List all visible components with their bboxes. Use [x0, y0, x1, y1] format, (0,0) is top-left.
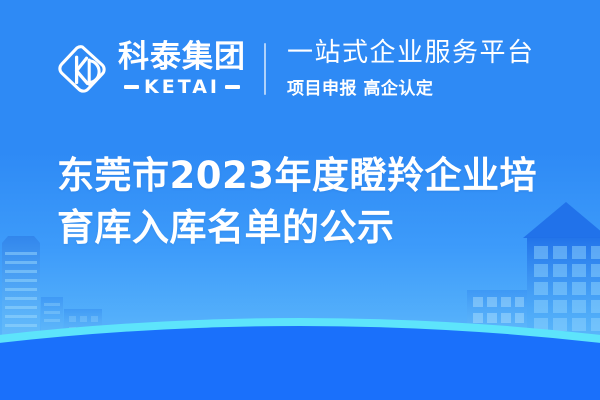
- tagline-main: 一站式企业服务平台: [287, 39, 535, 68]
- left-midrise: [41, 297, 63, 346]
- announcement-banner: 科泰集团 KETAI 一站式企业服务平台 项目申报 高企认定 东莞市2023年度…: [0, 0, 600, 400]
- right-lowrise: [467, 290, 527, 346]
- bottom-wave-band: [0, 318, 600, 400]
- tagline-sub: 项目申报 高企认定: [287, 74, 535, 99]
- brand-name-en-row: KETAI: [124, 78, 240, 97]
- tagline-group: 一站式企业服务平台 项目申报 高企认定: [287, 39, 535, 99]
- brand-logo: 科泰集团 KETAI: [55, 41, 246, 97]
- header-divider: [264, 43, 266, 95]
- ketai-diamond-kd-logo: [55, 41, 109, 97]
- brand-dash-left: [124, 85, 139, 89]
- brand-name-cn: 科泰集团: [118, 42, 246, 73]
- left-lowrise: [64, 309, 102, 346]
- brand-name-en: KETAI: [144, 78, 220, 97]
- brand-dash-right: [225, 85, 240, 89]
- title-block: 东莞市2023年度瞪羚企业培育库入库名单的公示: [57, 150, 572, 254]
- banner-header: 科泰集团 KETAI 一站式企业服务平台 项目申报 高企认定: [0, 30, 600, 108]
- left-skyscraper: [2, 236, 40, 346]
- brand-wordmark: 科泰集团 KETAI: [118, 42, 246, 97]
- page-title: 东莞市2023年度瞪羚企业培育库入库名单的公示: [57, 150, 572, 254]
